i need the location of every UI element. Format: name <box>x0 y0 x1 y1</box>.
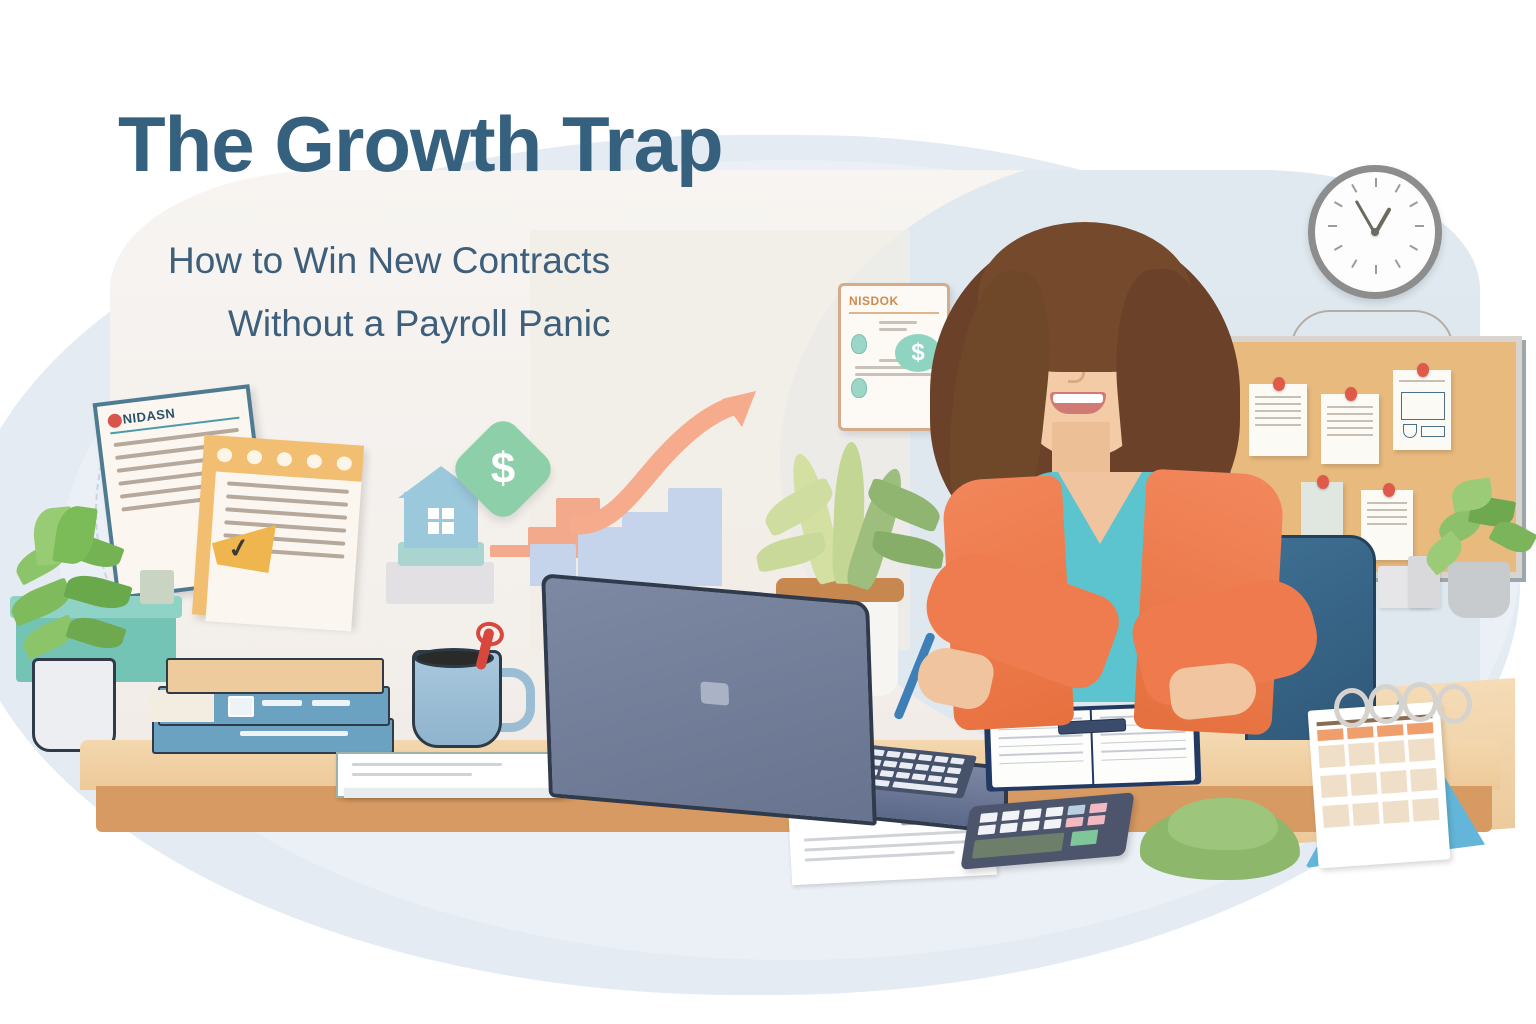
calendar-ring <box>1368 684 1404 724</box>
tag-icon <box>851 378 867 398</box>
small-block <box>140 570 174 604</box>
tag-icon <box>851 334 867 354</box>
teeth <box>1053 394 1103 403</box>
corkboard-note-diagram <box>1393 370 1451 450</box>
clock-center-pin <box>1371 228 1379 236</box>
dollar-symbol: $ <box>464 430 542 508</box>
check-icon: ✓ <box>226 531 252 565</box>
desk-calendar <box>1308 702 1451 869</box>
house-pedestal <box>386 562 494 604</box>
pin-icon <box>1345 387 1357 401</box>
subtitle-line-1: How to Win New Contracts <box>168 240 610 282</box>
calendar-week-row <box>1322 798 1439 828</box>
book-top <box>166 658 384 694</box>
plant-right-pot <box>1448 562 1510 618</box>
chart-step <box>490 545 532 557</box>
dollar-diamond-icon: $ <box>448 414 558 524</box>
corkboard-note <box>1321 394 1379 464</box>
page-title: The Growth Trap <box>118 105 723 183</box>
paper-stack-shadow <box>344 788 562 798</box>
pin-icon <box>1383 483 1395 497</box>
subtitle-line-2: Without a Payroll Panic <box>228 303 611 345</box>
laptop-logo-icon <box>701 681 730 706</box>
calendar-ring <box>1436 684 1472 724</box>
illustration-canvas: NISDOK $ NIDASN ✓ $ <box>0 0 1536 1024</box>
mouth <box>1050 392 1106 414</box>
clock-icon <box>1308 165 1442 299</box>
calendar-ring <box>1402 682 1438 722</box>
book-pages <box>150 690 214 722</box>
v-neckline <box>1058 472 1142 544</box>
pin-icon <box>1417 363 1429 377</box>
calculator-display <box>972 833 1065 859</box>
calendar-week-row <box>1320 768 1437 798</box>
plant-left-pot <box>32 658 116 752</box>
calendar-week-row <box>1318 738 1435 768</box>
house-window-icon <box>428 508 454 534</box>
laptop[interactable] <box>541 573 877 826</box>
document-notepad <box>192 435 364 626</box>
growth-arrow-icon <box>570 385 760 545</box>
calendar-ring <box>1334 688 1370 728</box>
businesswoman <box>900 210 1320 810</box>
